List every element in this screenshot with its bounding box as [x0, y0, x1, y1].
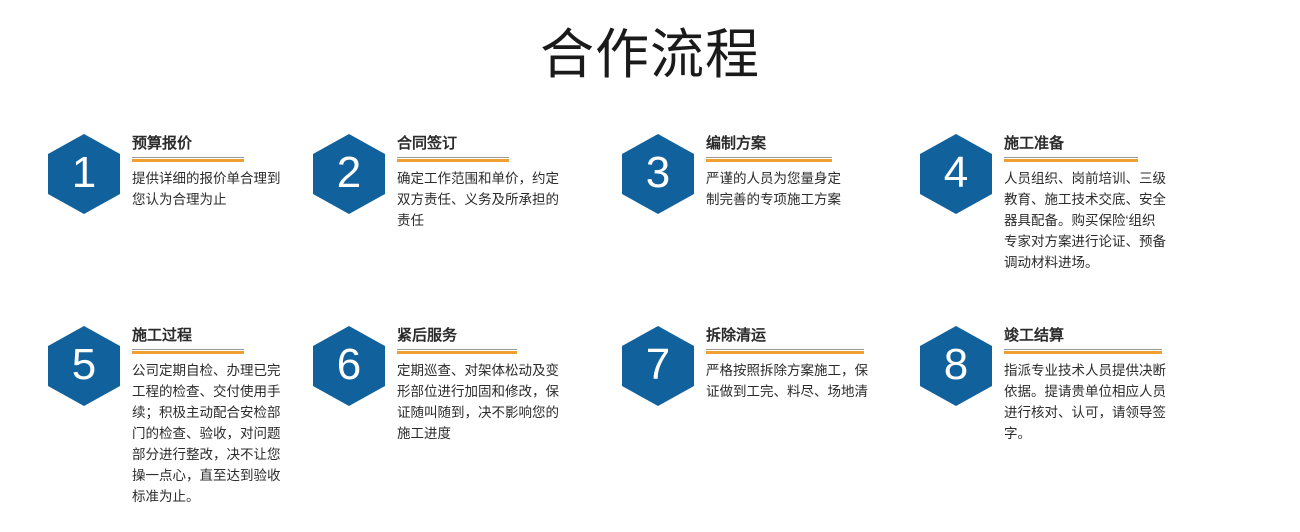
step-body-4: 施工准备 人员组织、岗前培训、三级教育、施工技术交底、安全器具配备。购买保险‘组… [992, 132, 1166, 273]
step-title-rule-4 [1004, 159, 1138, 162]
step-body-6: 紧后服务 定期巡查、对架体松动及变形部位进行加固和修改，保证随叫随到，决不影响您… [385, 324, 569, 444]
step-title-8: 竣工结算 [1004, 326, 1162, 350]
step-title-4: 施工准备 [1004, 134, 1138, 158]
process-step-6[interactable]: 6 紧后服务 定期巡查、对架体松动及变形部位进行加固和修改，保证随叫随到，决不影… [305, 324, 610, 444]
step-title-rule-8 [1004, 351, 1162, 354]
process-step-1[interactable]: 1 预算报价 提供详细的报价单合理到您认为合理为止 [0, 132, 305, 214]
process-steps-grid: 1 预算报价 提供详细的报价单合理到您认为合理为止 2 合同签订 确定工作范围和… [0, 132, 1300, 507]
step-number-badge-5: 5 [48, 326, 120, 406]
step-body-8: 竣工结算 指派专业技术人员提供决断依据。提请贵单位相应人员进行核对、认可，请领导… [992, 324, 1176, 444]
step-number-badge-7: 7 [622, 326, 694, 406]
step-title-1: 预算报价 [132, 134, 244, 158]
step-number-badge-6: 6 [313, 326, 385, 406]
step-body-3: 编制方案 严谨的人员为您量身定制完善的专项施工方案 [694, 132, 842, 210]
step-title-rule-6 [397, 351, 517, 354]
step-title-rule-2 [397, 159, 509, 162]
step-title-rule-1 [132, 159, 244, 162]
step-number-3: 3 [622, 134, 694, 214]
step-title-rule-7 [706, 351, 864, 354]
step-body-5: 施工过程 公司定期自检、办理已完工程的检查、交付使用手续；积极主动配合安检部门的… [120, 324, 284, 507]
step-title-6: 紧后服务 [397, 326, 517, 350]
step-number-badge-8: 8 [920, 326, 992, 406]
step-body-1: 预算报价 提供详细的报价单合理到您认为合理为止 [120, 132, 284, 210]
step-desc-8: 指派专业技术人员提供决断依据。提请贵单位相应人员进行核对、认可，请领导签字。 [1004, 360, 1176, 444]
step-title-3: 编制方案 [706, 134, 832, 158]
process-step-4[interactable]: 4 施工准备 人员组织、岗前培训、三级教育、施工技术交底、安全器具配备。购买保险… [910, 132, 1240, 273]
process-step-2[interactable]: 2 合同签订 确定工作范围和单价，约定双方责任、义务及所承担的责任 [305, 132, 610, 231]
step-desc-2: 确定工作范围和单价，约定双方责任、义务及所承担的责任 [397, 168, 565, 231]
step-number-badge-1: 1 [48, 134, 120, 214]
step-number-badge-3: 3 [622, 134, 694, 214]
process-row-top: 1 预算报价 提供详细的报价单合理到您认为合理为止 2 合同签订 确定工作范围和… [0, 132, 1300, 312]
step-desc-3: 严谨的人员为您量身定制完善的专项施工方案 [706, 168, 842, 210]
page-title: 合作流程 [0, 24, 1300, 86]
step-number-1: 1 [48, 134, 120, 214]
step-desc-1: 提供详细的报价单合理到您认为合理为止 [132, 168, 284, 210]
step-number-4: 4 [920, 134, 992, 214]
step-number-6: 6 [313, 326, 385, 406]
step-body-2: 合同签订 确定工作范围和单价，约定双方责任、义务及所承担的责任 [385, 132, 565, 231]
step-body-7: 拆除清运 严格按照拆除方案施工，保证做到工完、料尽、场地清 [694, 324, 878, 402]
step-title-rule-3 [706, 159, 832, 162]
step-desc-7: 严格按照拆除方案施工，保证做到工完、料尽、场地清 [706, 360, 878, 402]
step-number-badge-2: 2 [313, 134, 385, 214]
step-title-2: 合同签订 [397, 134, 509, 158]
process-step-3[interactable]: 3 编制方案 严谨的人员为您量身定制完善的专项施工方案 [610, 132, 910, 214]
process-step-5[interactable]: 5 施工过程 公司定期自检、办理已完工程的检查、交付使用手续；积极主动配合安检部… [0, 324, 305, 507]
step-desc-5: 公司定期自检、办理已完工程的检查、交付使用手续；积极主动配合安检部门的检查、验收… [132, 360, 284, 507]
step-title-5: 施工过程 [132, 326, 244, 350]
process-step-8[interactable]: 8 竣工结算 指派专业技术人员提供决断依据。提请贵单位相应人员进行核对、认可，请… [910, 324, 1240, 444]
step-number-8: 8 [920, 326, 992, 406]
step-title-7: 拆除清运 [706, 326, 864, 350]
step-desc-6: 定期巡查、对架体松动及变形部位进行加固和修改，保证随叫随到，决不影响您的施工进度 [397, 360, 569, 444]
step-number-badge-4: 4 [920, 134, 992, 214]
step-number-2: 2 [313, 134, 385, 214]
step-desc-4: 人员组织、岗前培训、三级教育、施工技术交底、安全器具配备。购买保险‘组织专家对方… [1004, 168, 1166, 273]
process-row-bottom: 5 施工过程 公司定期自检、办理已完工程的检查、交付使用手续；积极主动配合安检部… [0, 324, 1300, 507]
step-number-5: 5 [48, 326, 120, 406]
step-number-7: 7 [622, 326, 694, 406]
process-step-7[interactable]: 7 拆除清运 严格按照拆除方案施工，保证做到工完、料尽、场地清 [610, 324, 910, 406]
step-title-rule-5 [132, 351, 244, 354]
